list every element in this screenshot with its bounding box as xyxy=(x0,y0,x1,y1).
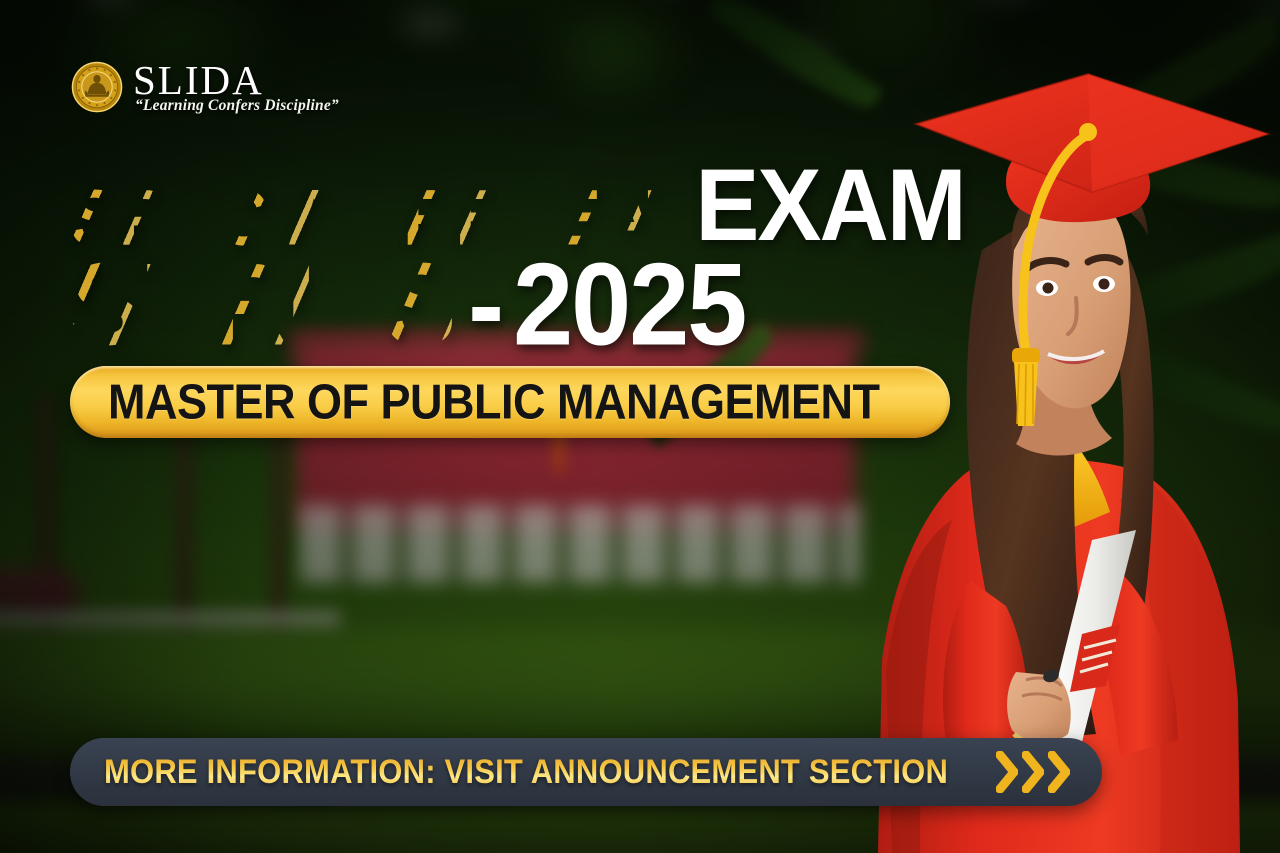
program-banner-label: MASTER OF PUBLIC MANAGEMENT xyxy=(108,373,879,430)
promotional-banner: SLIDA “Learning Confers Discipline” SPEC… xyxy=(0,0,1280,853)
program-banner: MASTER OF PUBLIC MANAGEMENT xyxy=(70,366,950,438)
headline-word-series: SERIES xyxy=(70,246,454,363)
slida-logo: SLIDA “Learning Confers Discipline” xyxy=(70,60,339,114)
chevron-right-icon xyxy=(996,751,1018,793)
cta-chevron-group xyxy=(996,751,1070,793)
headline-block: SPECIAL REPEAT EXAM SERIES - 2025 xyxy=(70,165,970,363)
chevron-right-icon xyxy=(1048,751,1070,793)
chevron-right-icon xyxy=(1022,751,1044,793)
brand-name: SLIDA xyxy=(133,60,339,101)
headline-dash: - xyxy=(454,246,513,363)
cta-label: MORE INFORMATION: VISIT ANNOUNCEMENT SEC… xyxy=(104,752,948,792)
brand-tagline: “Learning Confers Discipline” xyxy=(135,98,339,114)
slida-wordmark: SLIDA “Learning Confers Discipline” xyxy=(133,60,339,114)
headline-year: 2025 xyxy=(513,246,745,363)
headline-line-2: SERIES - 2025 xyxy=(70,251,970,363)
cta-bar[interactable]: MORE INFORMATION: VISIT ANNOUNCEMENT SEC… xyxy=(70,738,1102,806)
slida-seal-icon xyxy=(70,60,124,114)
